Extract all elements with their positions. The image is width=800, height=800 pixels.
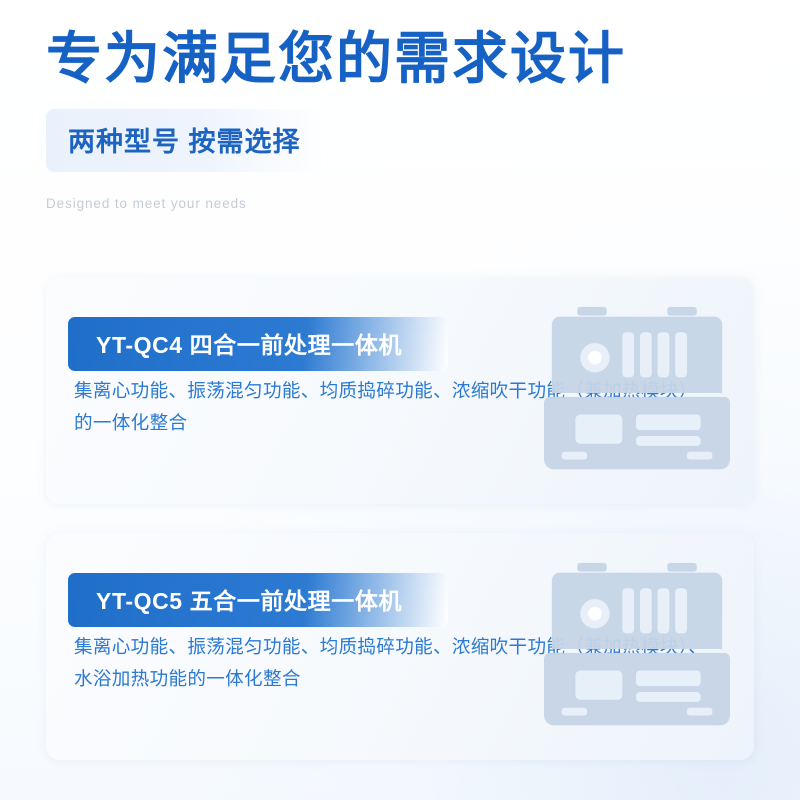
product-name-badge: YT-QC4 四合一前处理一体机: [68, 317, 448, 371]
product-name-text: YT-QC4 四合一前处理一体机: [96, 332, 402, 358]
english-subtitle: Designed to meet your needs: [46, 196, 766, 211]
portable-case-device-icon: [540, 299, 736, 485]
subtitle-pill: 两种型号 按需选择: [46, 109, 327, 172]
product-card-qc5[interactable]: YT-QC5 五合一前处理一体机 集离心功能、振荡混匀功能、均质捣碎功能、浓缩吹…: [46, 533, 754, 760]
subtitle-text: 两种型号 按需选择: [68, 127, 301, 157]
portable-case-device-icon: [540, 555, 736, 741]
product-card-qc4[interactable]: YT-QC4 四合一前处理一体机 集离心功能、振荡混匀功能、均质捣碎功能、浓缩吹…: [46, 277, 754, 504]
page-title: 专为满足您的需求设计: [46, 30, 766, 89]
promo-page: 专为满足您的需求设计 两种型号 按需选择 Designed to meet yo…: [0, 0, 800, 800]
product-name-badge: YT-QC5 五合一前处理一体机: [68, 573, 448, 627]
page-header: 专为满足您的需求设计 两种型号 按需选择 Designed to meet yo…: [46, 30, 766, 211]
product-name-text: YT-QC5 五合一前处理一体机: [96, 588, 402, 614]
